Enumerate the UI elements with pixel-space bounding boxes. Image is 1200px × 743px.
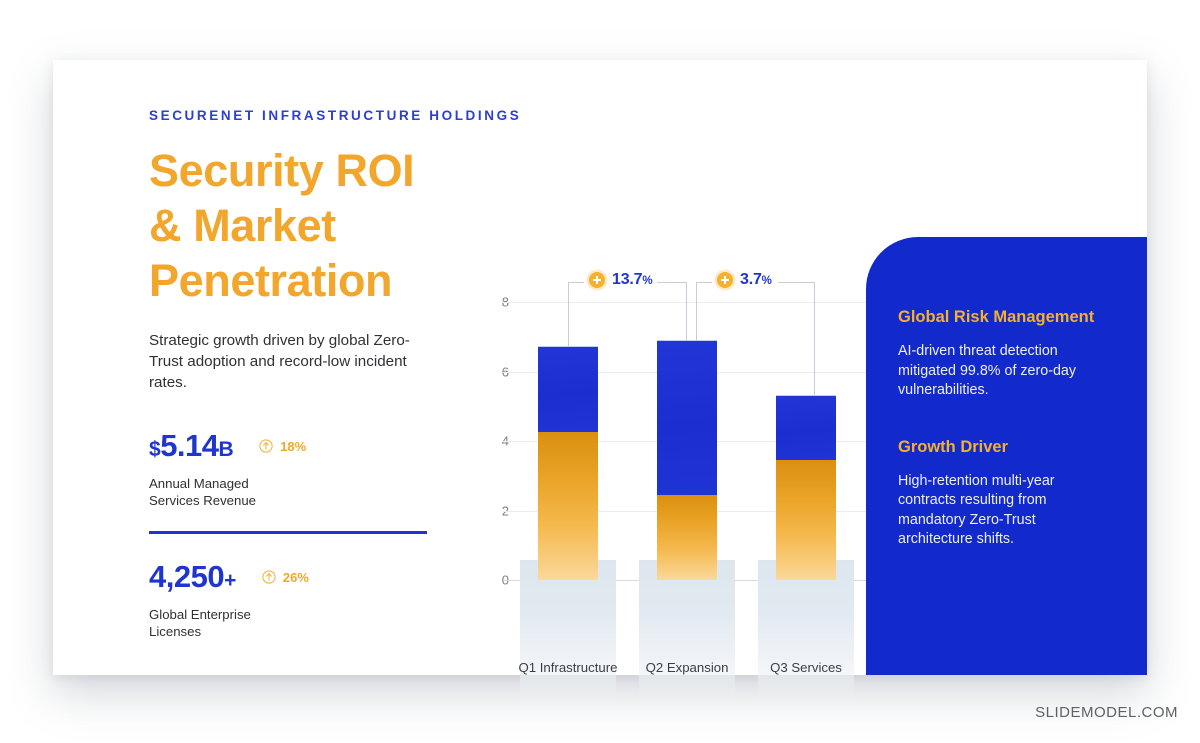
bracket-line-right bbox=[778, 282, 815, 283]
bar-segment-growth bbox=[538, 346, 598, 432]
slide-card: SECURENET INFRASTRUCTURE HOLDINGS Securi… bbox=[53, 60, 1147, 675]
bracket-drop-left bbox=[568, 282, 569, 347]
kpi-block-revenue: $5.14B 18% Annual Managed Services Reven… bbox=[149, 429, 449, 509]
chart-plot-area: 8 6 4 2 0 Q1 Infrastructure bbox=[493, 302, 873, 641]
kpi-value: 4,250+ bbox=[149, 560, 236, 598]
bar-segment-growth bbox=[657, 340, 717, 495]
page-subtitle: Strategic growth driven by global Zero-T… bbox=[149, 330, 434, 393]
plus-circle-icon bbox=[589, 272, 605, 288]
bar-q3-services[interactable] bbox=[776, 395, 836, 580]
growth-badge-suffix: % bbox=[642, 275, 652, 287]
kpi-label-line-1: Global Enterprise bbox=[149, 607, 449, 624]
kpi-number: 5.14 bbox=[160, 428, 218, 463]
kpi-label: Global Enterprise Licenses bbox=[149, 607, 449, 640]
page-title-line-3: Penetration bbox=[149, 253, 449, 308]
bracket-line-left bbox=[568, 282, 590, 283]
x-axis-label-q3: Q3 Services bbox=[741, 660, 871, 675]
kpi-delta: 26% bbox=[262, 570, 309, 585]
kpi-value: $5.14B bbox=[149, 429, 233, 467]
category-panel-q3 bbox=[758, 560, 854, 705]
growth-badge-suffix: % bbox=[762, 275, 772, 287]
kpi-divider bbox=[149, 531, 427, 534]
bar-q2-expansion[interactable] bbox=[657, 340, 717, 580]
stacked-bar-chart: 8 6 4 2 0 Q1 Infrastructure bbox=[455, 260, 875, 660]
panel-group-global-risk-management: Global Risk Management AI-driven threat … bbox=[898, 307, 1113, 401]
side-panel: Global Risk Management AI-driven threat … bbox=[866, 237, 1147, 675]
category-panel-q2 bbox=[639, 560, 735, 705]
kpi-label-line-2: Services Revenue bbox=[149, 493, 449, 510]
bracket-line-right bbox=[656, 282, 687, 283]
kpi-number: 4,250 bbox=[149, 559, 224, 594]
gridline-8 bbox=[503, 302, 873, 303]
kpi-block-licenses: 4,250+ 26% Global Enterprise Licenses bbox=[149, 560, 449, 640]
arrow-up-circle-icon bbox=[259, 439, 273, 453]
footer-brand: SLIDEMODEL.COM bbox=[1035, 704, 1178, 721]
bar-segment-base bbox=[776, 460, 836, 580]
bracket-drop-right bbox=[814, 282, 815, 396]
panel-body: AI-driven threat detection mitigated 99.… bbox=[898, 342, 1113, 401]
kpi-delta-value: 26% bbox=[283, 570, 309, 585]
kpi-delta: 18% bbox=[259, 439, 306, 454]
kpi-label-line-2: Licenses bbox=[149, 624, 449, 641]
kpi-value-row: 4,250+ 26% bbox=[149, 560, 449, 598]
bar-segment-growth bbox=[776, 395, 836, 460]
x-axis-label-q1: Q1 Infrastructure bbox=[503, 660, 633, 675]
growth-badge: 13.7% bbox=[584, 271, 657, 289]
kpi-unit: B bbox=[219, 438, 234, 461]
growth-badge-text: 3.7% bbox=[740, 271, 772, 289]
arrow-up-circle-icon bbox=[262, 570, 276, 584]
bar-q1-infrastructure[interactable] bbox=[538, 346, 598, 580]
growth-badge-value: 3.7 bbox=[740, 271, 762, 288]
kpi-label-line-1: Annual Managed bbox=[149, 476, 449, 493]
kpi-prefix: $ bbox=[149, 438, 160, 461]
panel-heading: Global Risk Management bbox=[898, 307, 1113, 328]
bracket-drop-left bbox=[696, 282, 697, 341]
panel-heading: Growth Driver bbox=[898, 437, 1113, 458]
growth-badge-text: 13.7% bbox=[612, 271, 652, 289]
left-content-column: SECURENET INFRASTRUCTURE HOLDINGS Securi… bbox=[149, 108, 449, 640]
category-panel-q1 bbox=[520, 560, 616, 705]
bar-segment-base bbox=[538, 432, 598, 580]
panel-body: High-retention multi-year contracts resu… bbox=[898, 472, 1113, 550]
side-panel-content: Global Risk Management AI-driven threat … bbox=[866, 237, 1147, 550]
page-title-line-1: Security ROI bbox=[149, 143, 449, 198]
growth-badge-value: 13.7 bbox=[612, 271, 642, 288]
eyebrow-company-name: SECURENET INFRASTRUCTURE HOLDINGS bbox=[149, 108, 449, 123]
kpi-unit: + bbox=[224, 569, 236, 592]
panel-group-growth-driver: Growth Driver High-retention multi-year … bbox=[898, 437, 1113, 550]
plus-circle-icon bbox=[717, 272, 733, 288]
kpi-delta-value: 18% bbox=[280, 439, 306, 454]
page-title: Security ROI & Market Penetration bbox=[149, 143, 449, 308]
page-title-line-2: & Market bbox=[149, 198, 449, 253]
bar-segment-base bbox=[657, 495, 717, 580]
x-axis-label-q2: Q2 Expansion bbox=[622, 660, 752, 675]
kpi-label: Annual Managed Services Revenue bbox=[149, 476, 449, 509]
growth-badge: 3.7% bbox=[712, 271, 777, 289]
bracket-drop-right bbox=[686, 282, 687, 341]
bracket-line-left bbox=[696, 282, 718, 283]
kpi-value-row: $5.14B 18% bbox=[149, 429, 449, 467]
